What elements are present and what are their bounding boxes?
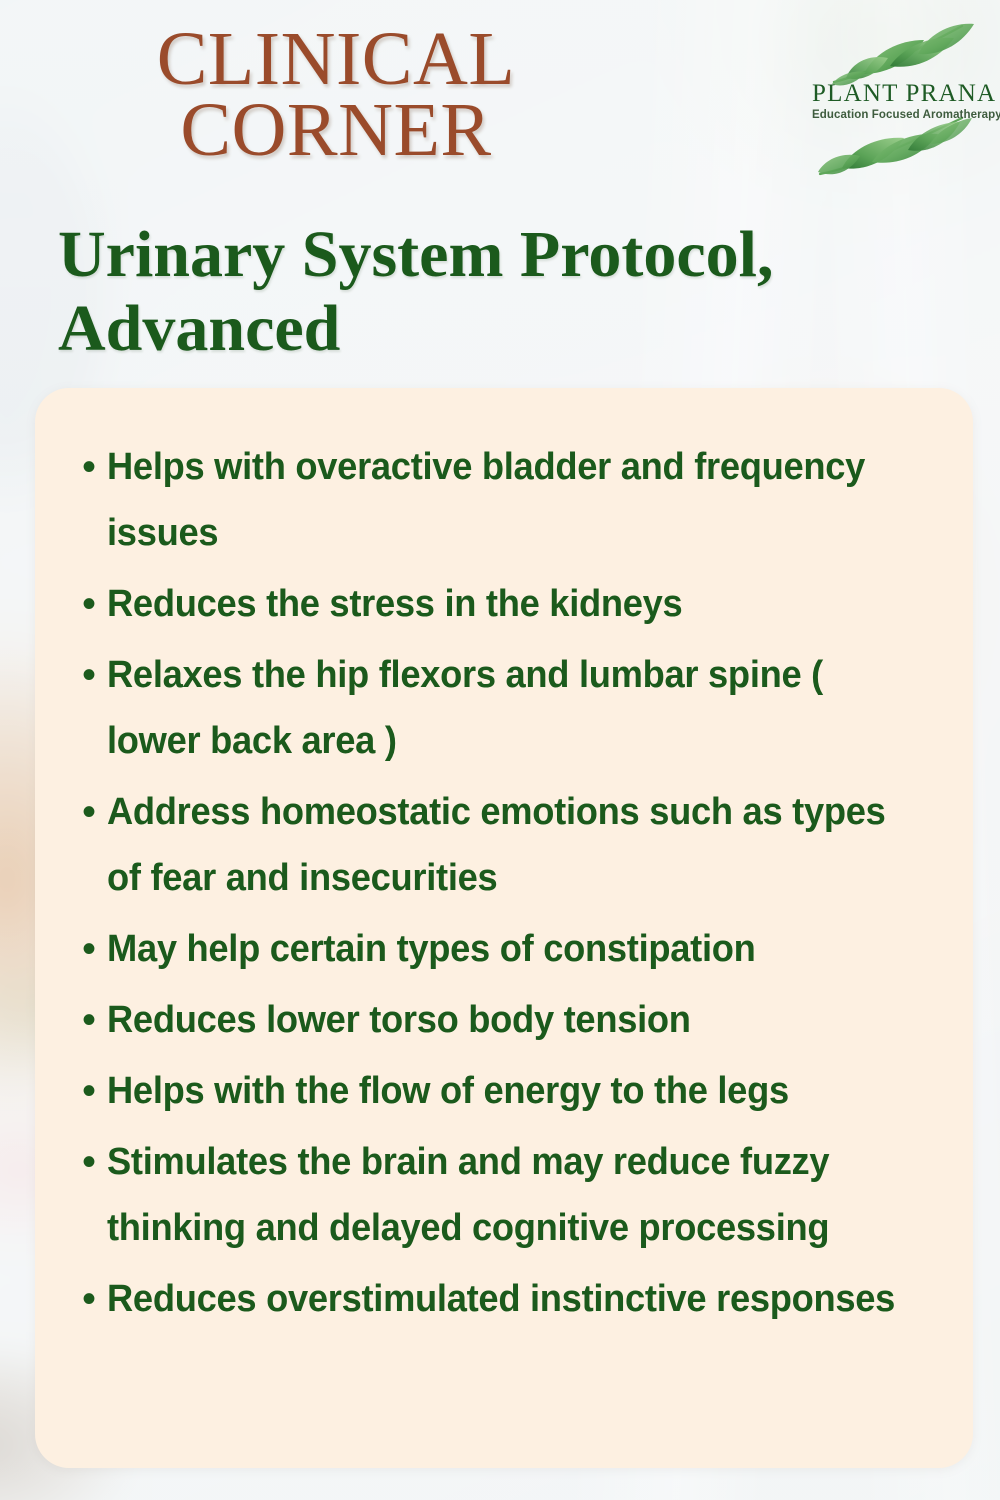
bullet-dot-icon: •	[71, 1058, 107, 1124]
list-item-label: Reduces overstimulated instinctive respo…	[107, 1266, 895, 1332]
list-item: •Reduces overstimulated instinctive resp…	[53, 1266, 947, 1332]
list-item: •May help certain types of constipation	[53, 916, 947, 982]
eyebrow-line-1: CLINICAL	[76, 24, 596, 95]
list-item: •Helps with the flow of energy to the le…	[53, 1058, 947, 1124]
benefits-list: •Helps with overactive bladder and frequ…	[35, 388, 973, 1332]
list-item: •Helps with overactive bladder and frequ…	[53, 434, 947, 566]
list-item-label: May help certain types of constipation	[107, 916, 756, 982]
bullet-dot-icon: •	[71, 1266, 107, 1332]
list-item-label: Helps with overactive bladder and freque…	[107, 434, 909, 566]
list-item-label: Relaxes the hip flexors and lumbar spine…	[107, 642, 909, 774]
list-item-label: Stimulates the brain and may reduce fuzz…	[107, 1129, 909, 1261]
list-item: •Relaxes the hip flexors and lumbar spin…	[53, 642, 947, 774]
bullet-dot-icon: •	[71, 779, 107, 845]
poster-root: CLINICAL CORNER	[0, 0, 1000, 1500]
logo-wordmark: PLANT PRANA	[812, 80, 988, 108]
bullet-dot-icon: •	[71, 916, 107, 982]
bullet-dot-icon: •	[71, 987, 107, 1053]
list-item: •Reduces the stress in the kidneys	[53, 571, 947, 637]
page-eyebrow-title: CLINICAL CORNER	[76, 24, 596, 165]
bullet-dot-icon: •	[71, 571, 107, 637]
benefits-card: •Helps with overactive bladder and frequ…	[35, 388, 973, 1468]
list-item-label: Reduces the stress in the kidneys	[107, 571, 682, 637]
list-item-label: Address homeostatic emotions such as typ…	[107, 779, 909, 911]
brand-logo: PLANT PRANA Education Focused Aromathera…	[812, 14, 988, 186]
bullet-dot-icon: •	[71, 1129, 107, 1195]
list-item: •Reduces lower torso body tension	[53, 987, 947, 1053]
bullet-dot-icon: •	[71, 642, 107, 708]
eyebrow-line-2: CORNER	[76, 95, 596, 166]
list-item: •Stimulates the brain and may reduce fuz…	[53, 1129, 947, 1261]
list-item-label: Helps with the flow of energy to the leg…	[107, 1058, 789, 1124]
page-title: Urinary System Protocol, Advanced	[58, 218, 938, 366]
bullet-dot-icon: •	[71, 434, 107, 500]
logo-tagline: Education Focused Aromatherapy	[812, 109, 988, 121]
list-item-label: Reduces lower torso body tension	[107, 987, 691, 1053]
list-item: •Address homeostatic emotions such as ty…	[53, 779, 947, 911]
